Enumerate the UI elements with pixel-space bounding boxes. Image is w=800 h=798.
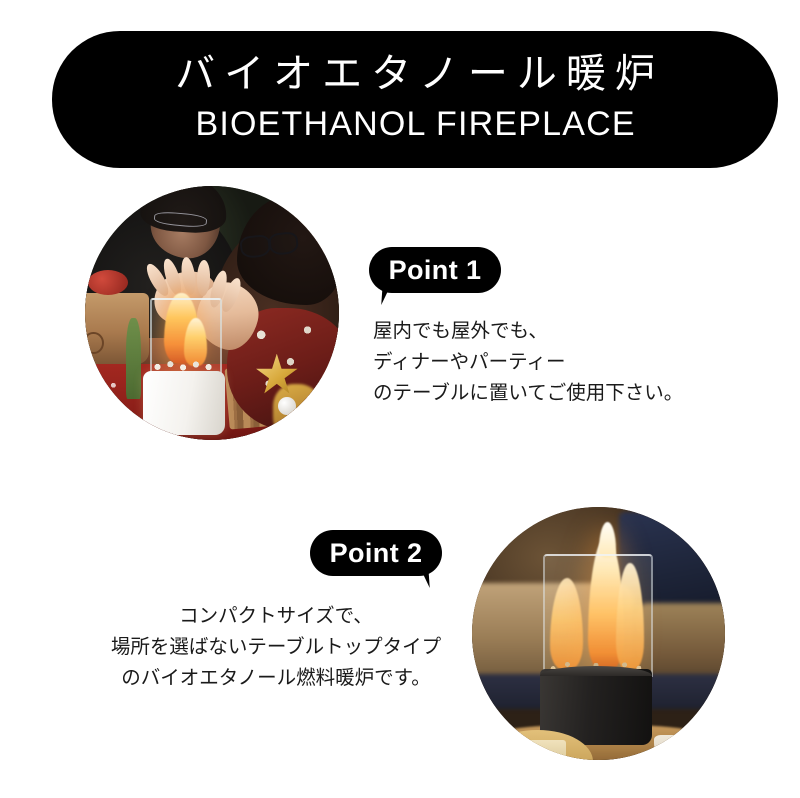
point-2-description: コンパクトサイズで、 場所を選ばないテーブルトップタイプ のバイオエタノール燃料… [92, 601, 460, 694]
photo-scene-outdoor-table [85, 186, 339, 440]
green-olives [662, 735, 713, 755]
speech-bubble-tail-icon [406, 566, 430, 588]
cheese-slice [515, 740, 566, 760]
page-subtitle-english: BIOETHANOL FIREPLACE [194, 105, 635, 144]
point-1-description: 屋内でも屋外でも、 ディナーやパーティー のテーブルに置いてご使用下さい。 [373, 316, 703, 409]
speech-bubble-tail-icon [381, 283, 405, 305]
small-cactus [126, 318, 141, 399]
white-ornament-ball [278, 397, 296, 415]
point-2-badge-label: Point 2 [330, 538, 423, 569]
point-2-badge: Point 2 [310, 530, 442, 576]
fireplace-white-base [143, 371, 224, 435]
point-1-badge-label: Point 1 [389, 255, 482, 286]
point-1-badge: Point 1 [369, 247, 501, 293]
point-2-photo [472, 507, 725, 760]
header-banner: バイオエタノール暖炉 BIOETHANOL FIREPLACE [52, 31, 778, 168]
cherry-tomato [500, 745, 520, 760]
page-title-japanese: バイオエタノール暖炉 [166, 52, 664, 96]
finger [196, 259, 210, 295]
point-1-photo [85, 186, 339, 440]
photo-scene-indoor-tabletop [472, 507, 725, 760]
product-feature-banner: バイオエタノール暖炉 BIOETHANOL FIREPLACE [0, 0, 800, 798]
glass-cylinder [543, 554, 653, 677]
